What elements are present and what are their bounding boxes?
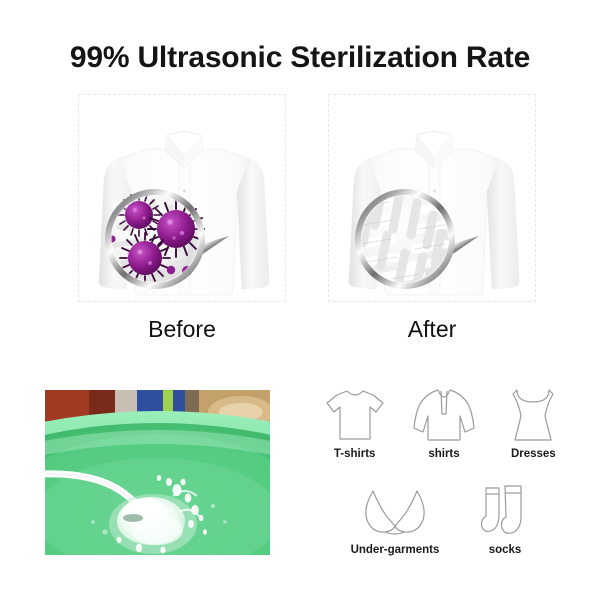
garment-item-shirts: shirts [409,382,478,460]
comparison-panel-before [78,94,286,302]
demo-photo [45,390,270,555]
before-stage [79,95,285,301]
garment-item-tshirt: T-shirts [320,382,389,460]
tshirt-icon [324,382,386,444]
garment-label-dresses: Dresses [511,448,556,460]
socks-icon [480,478,530,540]
garment-label-shirts: shirts [428,448,459,460]
garment-item-dresses: Dresses [499,382,568,460]
comparison-panel-after [328,94,536,302]
garment-types-grid: T-shirts shirts Dresses [320,382,568,562]
caption-after: After [328,316,536,343]
shirt-illustration-before [79,95,285,301]
garment-label-tshirt: T-shirts [334,448,376,460]
after-stage [329,95,535,301]
garment-row-top: T-shirts shirts Dresses [320,382,568,460]
shirt-illustration-after [329,95,535,301]
garment-row-bottom: Under-garments socks [320,478,568,556]
garment-label-socks: socks [489,544,522,556]
page-title: 99% Ultrasonic Sterilization Rate [0,41,600,75]
garment-label-undergarments: Under-garments [351,544,440,556]
garment-item-undergarments: Under-garments [347,478,443,556]
dress-icon [507,382,559,444]
caption-before: Before [78,316,286,343]
bra-icon [359,478,431,540]
longsleeve-shirt-icon [411,382,477,444]
garment-item-socks: socks [469,478,541,556]
